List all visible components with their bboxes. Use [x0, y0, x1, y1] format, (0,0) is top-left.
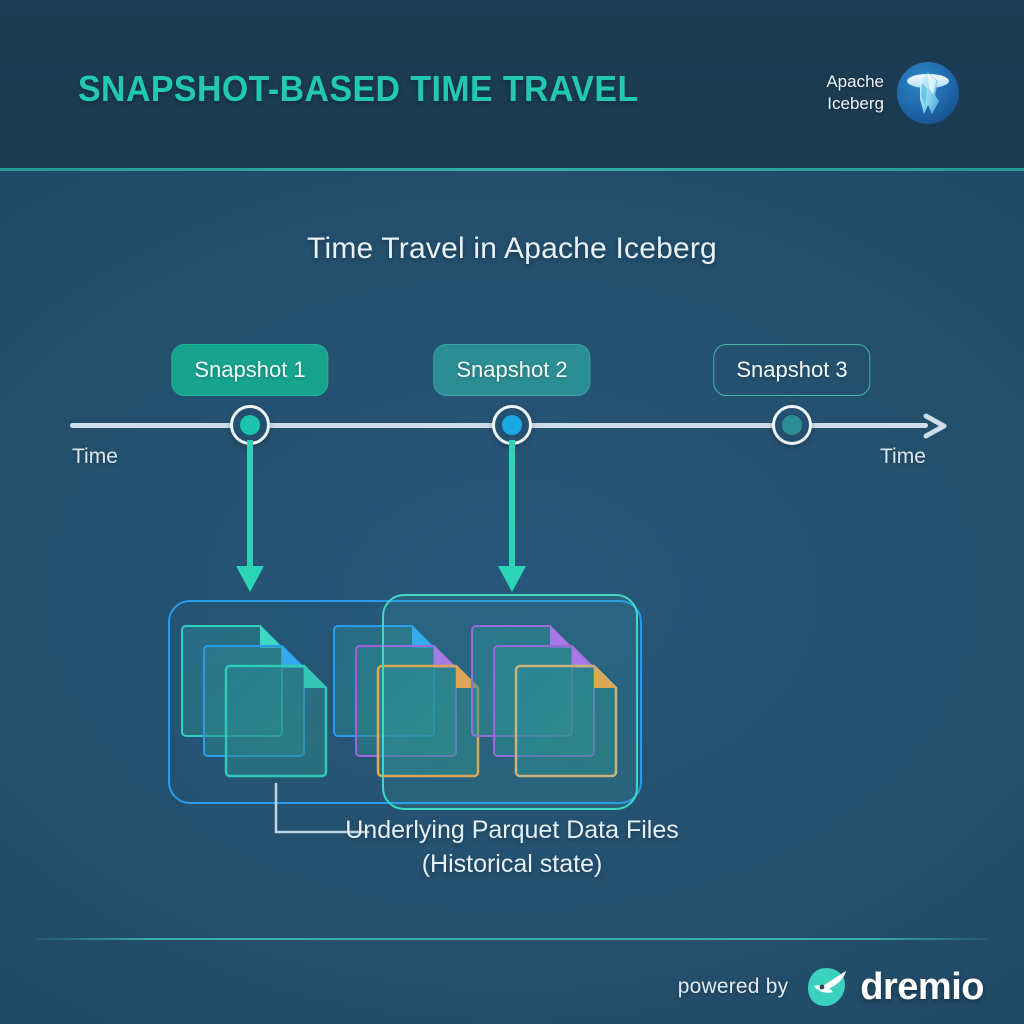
footer: powered by dremio [678, 958, 984, 1016]
snapshot-2-drop-arrow-icon [490, 440, 534, 600]
diagram-title: Time Travel in Apache Iceberg [0, 232, 1024, 266]
apache-iceberg-brand: Apache Iceberg [826, 58, 960, 128]
dremio-logo[interactable]: dremio [802, 962, 984, 1012]
dremio-narwhal-icon [802, 962, 852, 1012]
powered-by-label: powered by [678, 975, 789, 999]
axis-label-left: Time [72, 445, 118, 469]
header-divider [0, 168, 1024, 171]
snapshot-2-node[interactable] [492, 405, 532, 445]
caption: Underlying Parquet Data Files (Historica… [0, 813, 1024, 881]
brand-line-2: Iceberg [826, 93, 884, 115]
axis-label-right: Time [880, 445, 926, 469]
footer-divider [36, 938, 988, 940]
page-title: SNAPSHOT-BASED TIME TRAVEL [78, 68, 639, 110]
brand-line-1: Apache [826, 71, 884, 93]
current-snapshot-box [382, 594, 638, 810]
snapshot-2-pill[interactable]: Snapshot 2 [433, 344, 590, 396]
dremio-wordmark: dremio [860, 966, 984, 1009]
snapshot-1-drop-arrow-icon [228, 440, 272, 600]
snapshot-3-node[interactable] [772, 405, 812, 445]
caption-line-1: Underlying Parquet Data Files [0, 813, 1024, 847]
snapshot-3-pill[interactable]: Snapshot 3 [713, 344, 870, 396]
timeline-arrow-icon [922, 410, 954, 442]
snapshot-1-node[interactable] [230, 405, 270, 445]
snapshot-1-pill[interactable]: Snapshot 1 [171, 344, 328, 396]
apache-iceberg-label: Apache Iceberg [826, 71, 884, 115]
caption-line-2: (Historical state) [0, 847, 1024, 881]
apache-iceberg-icon [896, 61, 960, 125]
infographic-canvas: SNAPSHOT-BASED TIME TRAVEL Apache Iceber… [0, 0, 1024, 1024]
